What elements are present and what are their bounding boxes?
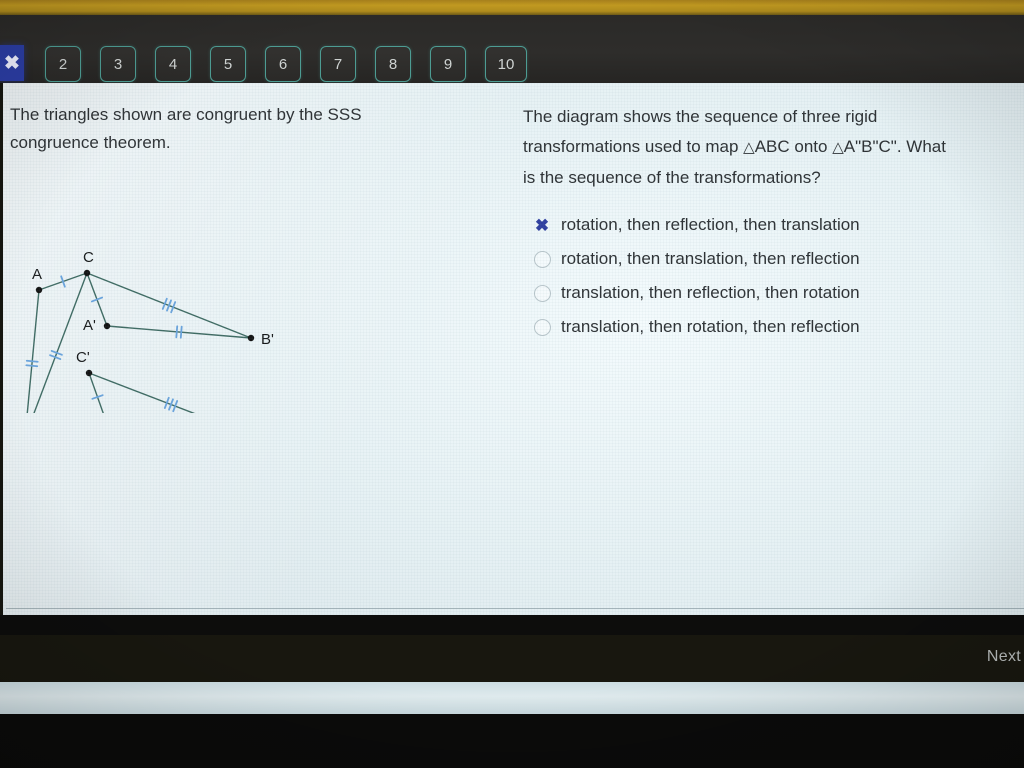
nav-question-9[interactable]: 9 [430,46,466,82]
next-button[interactable]: Next [987,648,1021,666]
answer-option-1[interactable]: ✖rotation, then reflection, then transla… [523,208,993,242]
nav-question-10[interactable]: 10 [485,46,527,82]
option-marker [523,285,561,302]
question-line-2-pre: transformations used to map [523,137,743,156]
answer-option-label: translation, then rotation, then reflect… [561,317,860,337]
question-nav-bar: ✖ 2345678910 [0,15,1024,83]
option-marker-selected: ✖ [523,217,561,234]
tick-marks-C-Bp [163,299,175,313]
answer-option-label: rotation, then reflection, then translat… [561,215,860,235]
tick-marks-Cp-B2 [165,398,177,411]
close-x-icon[interactable]: ✖ [0,45,24,81]
question-text: The diagram shows the sequence of three … [523,102,1023,193]
footer-light-strip [0,682,1024,714]
vertex-label-Bp: B' [261,331,274,348]
radio-button-icon[interactable] [534,319,551,336]
photographed-screen: ✖ 2345678910 The triangles shown are con… [0,0,1024,768]
option-marker [523,319,561,336]
footer-bar [0,635,1024,682]
nav-question-4[interactable]: 4 [155,46,191,82]
vertex-point-Bp [248,335,254,341]
nav-question-8[interactable]: 8 [375,46,411,82]
triangle-symbol-a2b2c2: △ [832,139,844,156]
vertex-point-C [84,270,90,276]
question-a2b2c2: A"B"C". What [844,137,946,156]
nav-question-5[interactable]: 5 [210,46,246,82]
vertex-point-Ap [104,323,110,329]
screen-bottom-edge [0,714,1024,768]
monitor-glare-strip [0,0,1024,15]
answer-option-2[interactable]: rotation, then translation, then reflect… [523,242,993,276]
tick-mark [176,326,177,337]
vertex-label-Ap: A' [83,317,96,334]
question-content-panel: The triangles shown are congruent by the… [0,83,1024,615]
answer-option-4[interactable]: translation, then rotation, then reflect… [523,310,993,344]
nav-question-3[interactable]: 3 [100,46,136,82]
answer-option-label: translation, then reflection, then rotat… [561,283,860,303]
nav-question-2[interactable]: 2 [45,46,81,82]
answer-option-label: rotation, then translation, then reflect… [561,249,860,269]
option-marker [523,251,561,268]
nav-question-6[interactable]: 6 [265,46,301,82]
question-abc: ABC onto [755,137,833,156]
vertex-label-Cp: C' [76,349,90,366]
incorrect-x-icon: ✖ [535,217,549,234]
triangles-svg: ACBA'B'C'A"B"C" [3,83,303,413]
question-line-1: The diagram shows the sequence of three … [523,107,877,126]
segment-A-B [25,290,39,413]
radio-button-icon[interactable] [534,285,551,302]
answer-option-3[interactable]: translation, then reflection, then rotat… [523,276,993,310]
question-line-3: is the sequence of the transformations? [523,168,821,187]
radio-button-icon[interactable] [534,251,551,268]
tick-mark [26,365,37,366]
tick-mark [181,327,182,338]
nav-question-7[interactable]: 7 [320,46,356,82]
triangle-symbol-abc: △ [743,139,755,156]
content-divider [6,608,1024,609]
congruent-triangles-diagram: ACBA'B'C'A"B"C" [3,83,303,413]
vertex-label-C: C [83,249,94,266]
answer-options-list: ✖rotation, then reflection, then transla… [523,208,993,344]
vertex-point-A [36,287,42,293]
tick-mark [27,361,38,362]
segment-Ap-Bp [107,326,251,338]
vertex-point-Cp [86,370,92,376]
vertex-label-A: A [32,266,42,283]
